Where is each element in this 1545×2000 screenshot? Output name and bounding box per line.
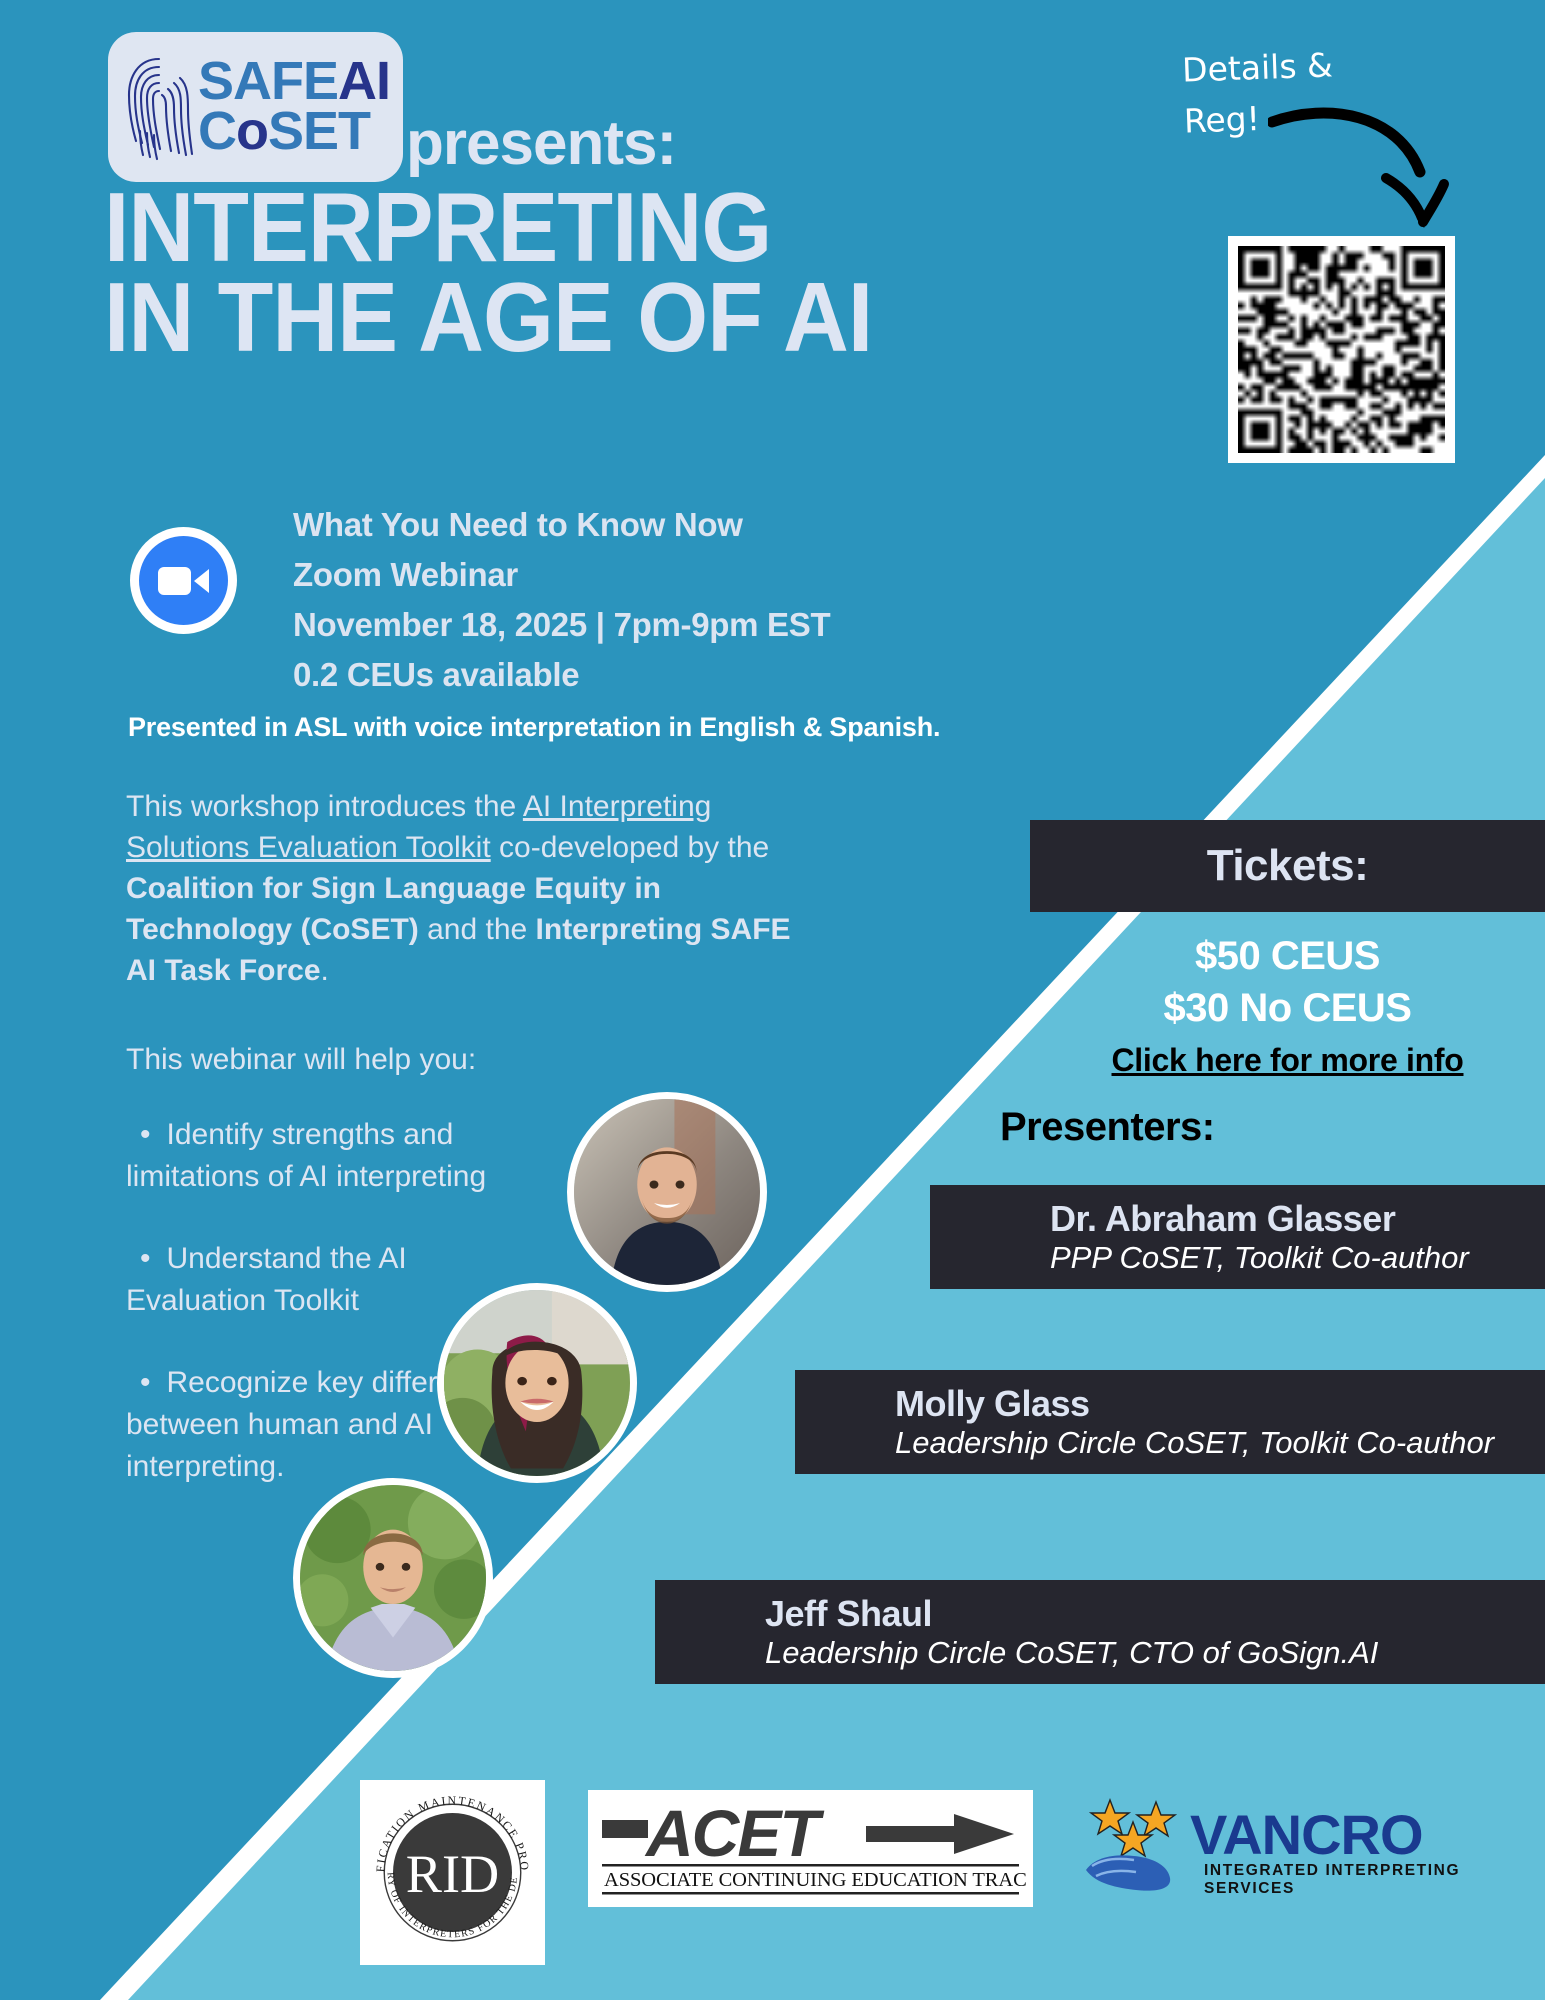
zoom-camera-icon [130,527,237,634]
vancro-tagline: INTEGRATED INTERPRETING SERVICES [1204,1862,1487,1898]
tickets-heading: Tickets: [1207,841,1369,891]
help-you-lead: This webinar will help you: [126,1043,476,1077]
event-line-3: November 18, 2025 | 7pm-9pm EST [293,600,830,650]
rid-center-text: RID [406,1844,499,1904]
presenter-name: Jeff Shaul [765,1593,1545,1634]
tickets-heading-bar: Tickets: [1030,820,1545,912]
acet-logo: ACET ASSOCIATE CONTINUING EDUCATION TRAC… [588,1790,1033,1907]
presenter-band-2: Molly Glass Leadership Circle CoSET, Too… [795,1370,1545,1474]
headshot-image [574,1099,760,1285]
presenter-name: Dr. Abraham Glasser [1050,1198,1545,1239]
vancro-wordmark: VANCRO [1190,1802,1423,1867]
hand-with-stars-icon [1082,1796,1192,1896]
logo-wordmark: SAFEAI CoSET [198,57,390,156]
desc-period: . [321,954,329,987]
rid-logo: CERTIFICATION MAINTENANCE PROGRAM REGIST… [360,1780,545,1965]
logo-o: o [236,101,268,161]
qr-code-canvas[interactable] [1238,246,1445,453]
presenter-band-3: Jeff Shaul Leadership Circle CoSET, CTO … [655,1580,1545,1684]
presenters-heading: Presenters: [1000,1105,1215,1150]
headshot-image [300,1485,486,1671]
fingerprint-icon [122,51,196,163]
event-line-1: What You Need to Know Now [293,500,830,550]
desc-part-2: co-developed by the [491,831,770,864]
desc-part-1: This workshop introduces the [126,790,523,823]
acet-logo-icon: ACET ASSOCIATE CONTINUING EDUCATION TRAC… [594,1794,1027,1903]
desc-part-3: and the [419,913,536,946]
event-line-4: 0.2 CEUs available [293,650,830,700]
event-line-2: Zoom Webinar [293,550,830,600]
more-info-link[interactable]: Click here for more info [1030,1042,1545,1079]
headshot-abraham-glasser [567,1092,767,1292]
list-item: Identify strengths and limitations of AI… [126,1114,546,1198]
rid-seal-icon: CERTIFICATION MAINTENANCE PROGRAM REGIST… [365,1785,540,1960]
qr-code[interactable] [1228,236,1455,463]
headline-line-2: IN THE AGE OF AI [104,272,941,362]
presenter-name: Molly Glass [895,1383,1545,1424]
callout-line-1: Details & [1181,39,1333,95]
headshot-jeff-shaul [293,1478,493,1678]
headshot-molly-glass [437,1283,637,1483]
ticket-prices: $50 CEUS $30 No CEUS [1030,930,1545,1034]
presents-label: presents: [406,108,676,179]
page-title: INTERPRETING IN THE AGE OF AI [104,182,941,362]
headshot-image [444,1290,630,1476]
presenter-role: PPP CoSET, Toolkit Co-author [1050,1239,1545,1276]
acet-tagline: ASSOCIATE CONTINUING EDUCATION TRACKING [604,1869,1027,1891]
acet-wordmark: ACET [644,1796,824,1870]
logo-set: SET [268,101,370,161]
headline-line-1: INTERPRETING [104,182,941,272]
accessibility-note: Presented in ASL with voice interpretati… [128,712,940,743]
presenter-role: Leadership Circle CoSET, CTO of GoSign.A… [765,1634,1545,1671]
price-with-ceus: $50 CEUS [1030,930,1545,982]
curved-arrow-icon [1268,100,1468,250]
presenter-band-1: Dr. Abraham Glasser PPP CoSET, Toolkit C… [930,1185,1545,1289]
safeai-coset-logo: SAFEAI CoSET [108,32,403,182]
flyer-canvas: SAFEAI CoSET presents: INTERPRETING IN T… [0,0,1545,2000]
price-no-ceus: $30 No CEUS [1030,982,1545,1034]
vancro-logo: VANCRO INTEGRATED INTERPRETING SERVICES [1082,1796,1487,1901]
workshop-description: This workshop introduces the AI Interpre… [126,786,826,991]
event-details: What You Need to Know Now Zoom Webinar N… [293,500,830,701]
logo-c: C [198,101,236,161]
presenter-role: Leadership Circle CoSET, Toolkit Co-auth… [895,1424,1545,1461]
video-camera-glyph [157,564,211,598]
